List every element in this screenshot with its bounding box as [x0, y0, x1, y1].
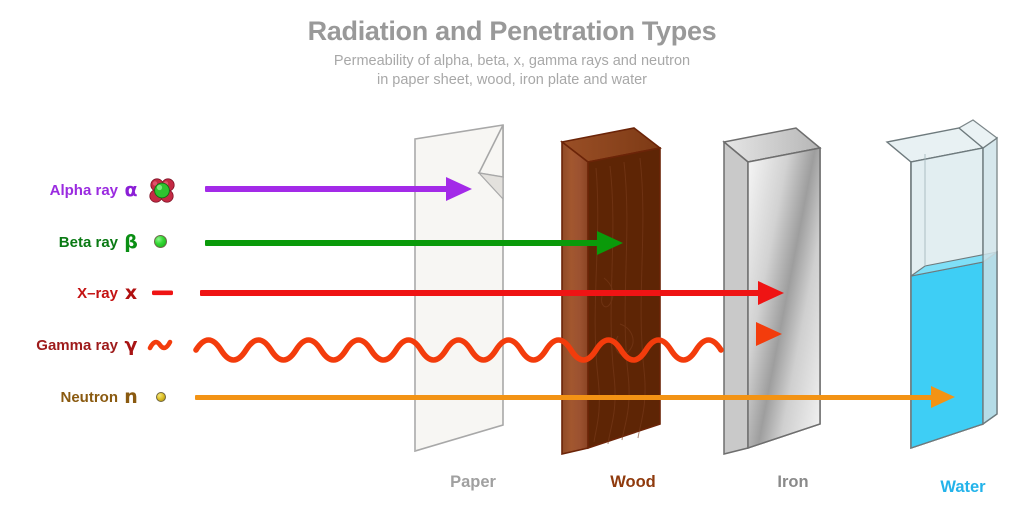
barrier-water: [885, 128, 1010, 468]
legend-symbol-gamma: γ: [118, 334, 144, 356]
ray-alpha-arrowhead: [446, 177, 472, 201]
water-front-fill: [911, 262, 983, 448]
legend-symbol-xray: x: [118, 282, 144, 304]
green-sphere-icon: [144, 227, 180, 257]
legend-symbol-alpha: α: [118, 179, 144, 201]
legend-label-gamma: Gamma ray: [0, 337, 118, 354]
gamma-sine-path: [196, 340, 721, 360]
gold-sphere-icon: [144, 382, 180, 412]
legend-label-alpha: Alpha ray: [0, 182, 118, 199]
red-dash-icon: [144, 278, 180, 308]
ray-gamma-arrowhead: [756, 322, 782, 346]
page-title: Radiation and Penetration Types: [0, 14, 1024, 48]
caption-wood: Wood: [578, 473, 688, 492]
ray-xray-arrowhead: [758, 281, 784, 305]
caption-iron: Iron: [738, 473, 848, 492]
iron-left-edge-face: [724, 142, 748, 454]
red-wave-icon: [144, 330, 180, 360]
ray-neutron-line: [195, 395, 935, 400]
legend-row-neutron: Neutron n: [0, 382, 180, 412]
ray-beta-arrowhead: [597, 231, 623, 255]
ray-xray-line: [200, 290, 763, 296]
legend-row-beta: Beta ray β: [0, 227, 180, 257]
legend-label-xray: X–ray: [0, 285, 118, 302]
caption-water: Water: [908, 478, 1018, 497]
subtitle-line-2: in paper sheet, wood, iron plate and wat…: [0, 71, 1024, 90]
legend-symbol-beta: β: [118, 231, 144, 253]
legend-label-beta: Beta ray: [0, 234, 118, 251]
ray-gamma-wave: [196, 322, 796, 372]
barrier-wood: [560, 128, 680, 468]
alpha-particle-cluster-icon: [144, 175, 180, 205]
header: Radiation and Penetration Types Permeabi…: [0, 14, 1024, 90]
legend-row-xray: X–ray x: [0, 278, 180, 308]
ray-alpha-line: [205, 186, 450, 192]
subtitle-line-1: Permeability of alpha, beta, x, gamma ra…: [0, 52, 1024, 71]
water-tank-outer-wall: [983, 138, 997, 424]
wood-front-face: [562, 142, 588, 454]
legend-row-gamma: Gamma ray γ: [0, 330, 180, 360]
legend-label-neutron: Neutron: [0, 389, 118, 406]
diagram-canvas: Radiation and Penetration Types Permeabi…: [0, 0, 1024, 521]
ray-neutron-arrowhead: [931, 386, 955, 408]
legend-row-alpha: Alpha ray α: [0, 175, 180, 205]
legend-symbol-neutron: n: [118, 386, 144, 408]
wood-side-face: [588, 148, 660, 448]
caption-paper: Paper: [418, 473, 528, 492]
ray-beta-line: [205, 240, 601, 246]
